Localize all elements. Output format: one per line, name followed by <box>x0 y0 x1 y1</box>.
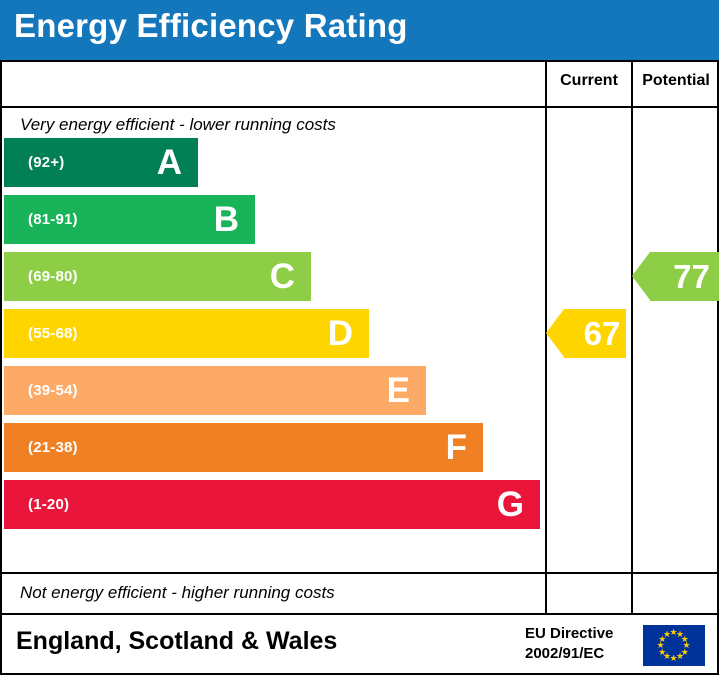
band-range-e: (39-54) <box>28 382 78 399</box>
page-title: Energy Efficiency Rating <box>14 7 408 45</box>
band-letter-b: B <box>214 202 239 237</box>
band-range-f: (21-38) <box>28 439 78 456</box>
band-bar-d: (55-68) D <box>4 309 369 358</box>
band-letter-g: G <box>497 487 524 522</box>
current-rating-badge: 67 <box>564 309 626 358</box>
band-letter-e: E <box>387 373 410 408</box>
band-bar-b: (81-91) B <box>4 195 255 244</box>
band-bar-c: (69-80) C <box>4 252 311 301</box>
chart-header: Energy Efficiency Rating <box>0 0 719 60</box>
band-range-d: (55-68) <box>28 325 78 342</box>
current-badge-arrow <box>546 309 564 357</box>
band-bar-g: (1-20) G <box>4 480 540 529</box>
potential-rating-badge: 77 <box>650 252 719 301</box>
column-header-current: Current <box>547 72 631 90</box>
band-letter-f: F <box>446 430 467 465</box>
note-efficient: Very energy efficient - lower running co… <box>20 115 336 135</box>
band-range-g: (1-20) <box>28 496 69 513</box>
rating-bars: (92+) A (81-91) B (69-80) C (55-68) D (3… <box>4 138 545 550</box>
column-divider-potential <box>631 62 633 613</box>
epc-certificate: Energy Efficiency Rating Current Potenti… <box>0 0 719 675</box>
band-range-a: (92+) <box>28 154 64 171</box>
column-header-potential: Potential <box>633 72 719 90</box>
current-rating-value: 67 <box>570 317 621 350</box>
rating-grid: Current Potential Very energy efficient … <box>0 60 719 615</box>
chart-footer: England, Scotland & Wales EU Directive 2… <box>0 615 719 675</box>
band-bar-f: (21-38) F <box>4 423 483 472</box>
eu-directive-line1: EU Directive <box>525 624 613 644</box>
band-letter-a: A <box>157 145 182 180</box>
eu-flag-icon: ★★★★★★★★★★★★ <box>643 625 705 666</box>
band-bar-e: (39-54) E <box>4 366 426 415</box>
header-divider <box>2 106 717 108</box>
band-range-c: (69-80) <box>28 268 78 285</box>
region-label: England, Scotland & Wales <box>16 627 337 656</box>
band-bar-a: (92+) A <box>4 138 198 187</box>
footer-divider <box>2 572 717 574</box>
potential-badge-arrow <box>632 252 650 300</box>
note-inefficient: Not energy efficient - higher running co… <box>20 583 335 603</box>
band-range-b: (81-91) <box>28 211 78 228</box>
eu-directive-line2: 2002/91/EC <box>525 644 613 664</box>
potential-rating-value: 77 <box>659 260 710 293</box>
eu-star-icon: ★ <box>663 630 671 639</box>
band-letter-c: C <box>270 259 295 294</box>
eu-directive-label: EU Directive 2002/91/EC <box>525 624 613 665</box>
band-letter-d: D <box>328 316 353 351</box>
